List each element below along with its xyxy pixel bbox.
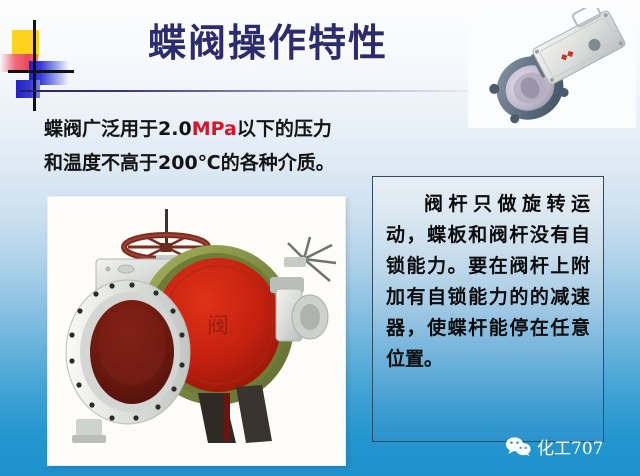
intro-paragraph: 蝶阀广泛用于2.0MPa以下的压力 和温度不高于200℃的各种介质。 xyxy=(44,112,384,180)
callout-box: 阀杆只做旋转运动，蝶板和阀杆没有自锁能力。要在阀杆上附加有自锁能力的的减速器，使… xyxy=(372,176,604,442)
deco-blue-foot xyxy=(16,80,40,98)
slide-canvas: 蝶阀操作特性 蝶阀广泛用于2.0MPa以下的压力 和温度不高于200℃的各种介质… xyxy=(0,0,640,476)
intro-line2-post: 的各种介质。 xyxy=(221,152,335,174)
intro-pressure-value: 2.0 xyxy=(158,118,192,140)
intro-line-2: 和温度不高于200℃的各种介质。 xyxy=(44,146,384,180)
corner-decoration xyxy=(0,20,80,115)
deco-vertical-line xyxy=(33,20,36,111)
small-valve-photo: ◆◆ xyxy=(468,8,636,128)
intro-line2-pre: 和温度不高于 xyxy=(44,152,158,174)
wechat-icon xyxy=(505,437,531,457)
page-title: 蝶阀操作特性 xyxy=(148,12,388,67)
title-divider xyxy=(20,90,490,92)
callout-text: 阀杆只做旋转运动，蝶板和阀杆没有自锁能力。要在阀杆上附加有自锁能力的的减速器，使… xyxy=(386,189,590,375)
intro-pressure-unit: MPa xyxy=(192,118,237,140)
watermark: 化工707 xyxy=(505,434,603,459)
svg-text:阀: 阀 xyxy=(207,314,229,339)
intro-temperature-value: 200℃ xyxy=(158,152,221,174)
deco-horizontal-line xyxy=(8,70,74,73)
watermark-label: 化工707 xyxy=(537,434,603,459)
main-valve-photo: 阀 xyxy=(48,197,345,465)
intro-line1-post: 以下的压力 xyxy=(237,118,332,140)
intro-line1-pre: 蝶阀广泛用于 xyxy=(44,118,158,140)
intro-line-1: 蝶阀广泛用于2.0MPa以下的压力 xyxy=(44,112,384,146)
